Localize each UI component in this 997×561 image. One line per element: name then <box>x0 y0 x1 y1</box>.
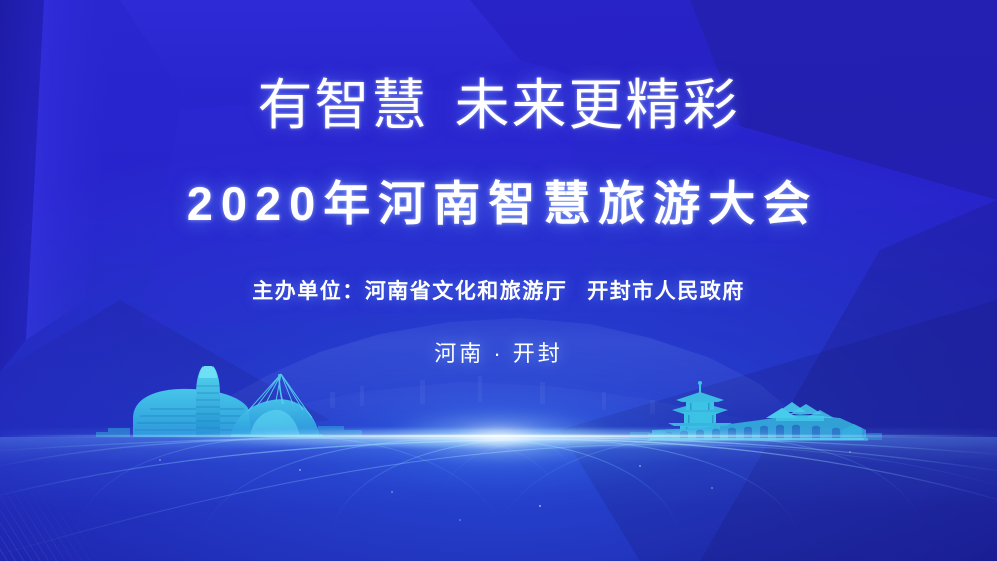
organizer-label: 主办单位： <box>252 280 365 303</box>
poster-location: 河南 · 开封 <box>0 343 997 365</box>
tagline-part-2: 未来更精彩 <box>455 74 740 136</box>
poster-tagline: 有智慧未来更精彩 <box>0 78 997 133</box>
poster-main-title: 2020年河南智慧旅游大会 <box>0 180 997 227</box>
organizer-name-1: 河南省文化和旅游厅 <box>365 280 568 303</box>
organizer-name-2: 开封市人民政府 <box>587 280 745 303</box>
poster-organizer-line: 主办单位：河南省文化和旅游厅开封市人民政府 <box>0 281 997 302</box>
tagline-part-1: 有智慧 <box>257 74 428 136</box>
poster-text-block: 有智慧未来更精彩 2020年河南智慧旅游大会 主办单位：河南省文化和旅游厅开封市… <box>0 0 997 561</box>
conference-poster: 有智慧未来更精彩 2020年河南智慧旅游大会 主办单位：河南省文化和旅游厅开封市… <box>0 0 997 561</box>
